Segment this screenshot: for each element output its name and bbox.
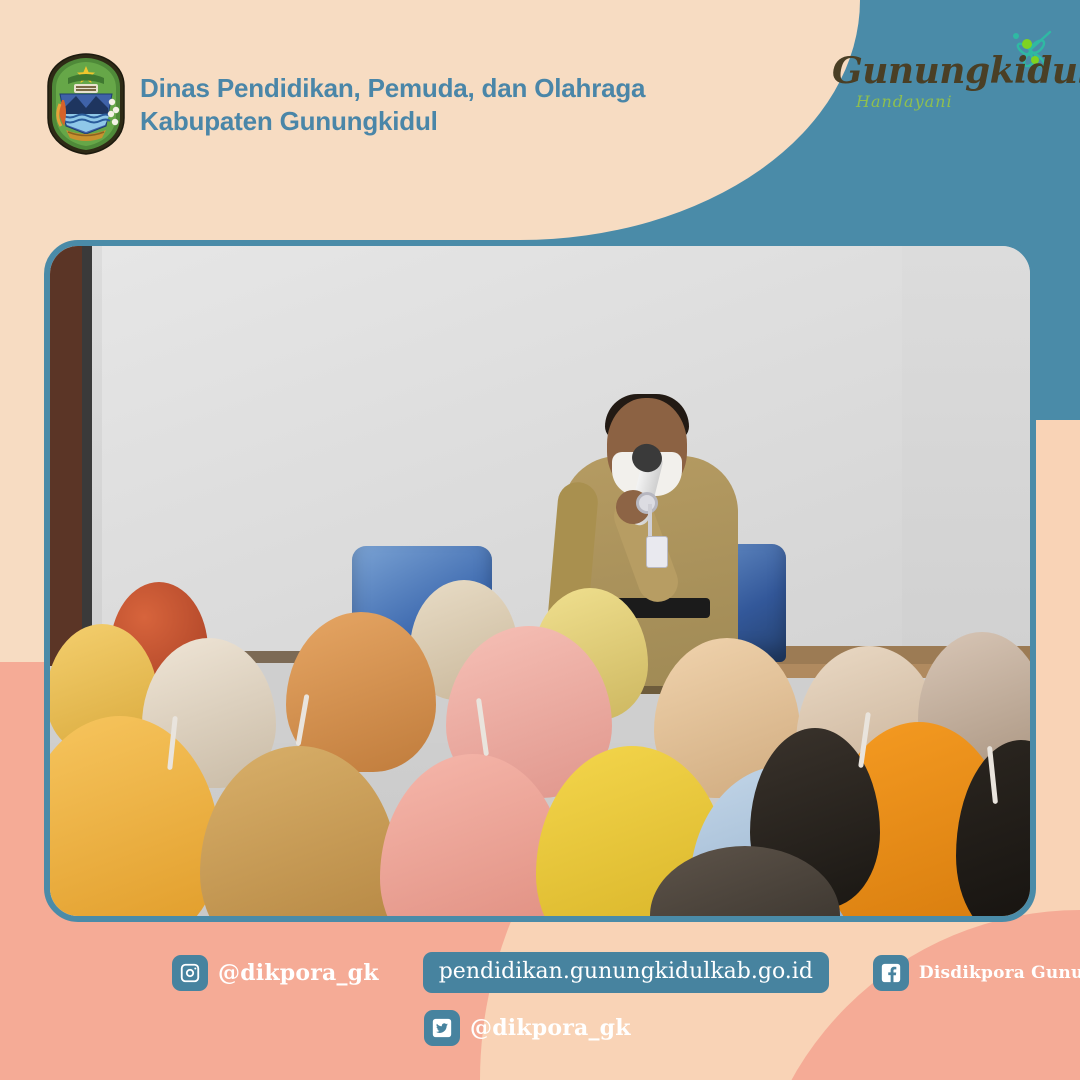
footer-row-primary: @dikpora_gk pendidikan.gunungkidulkab.go… (172, 952, 1080, 993)
speaker-id-badge (646, 536, 668, 568)
photo-frame (44, 240, 1036, 922)
twitter-handle[interactable]: @dikpora_gk (470, 1015, 631, 1041)
social-footer: @dikpora_gk pendidikan.gunungkidulkab.go… (0, 930, 1080, 1080)
brand-title: Dinas Pendidikan, Pemuda, dan Olahraga K… (140, 72, 645, 139)
gunungkidul-logo: Gunungkidul Handayani (832, 34, 1062, 130)
facebook-icon[interactable] (873, 955, 909, 991)
instagram-icon[interactable] (172, 955, 208, 991)
coat-of-arms-icon (44, 52, 128, 156)
footer-row-secondary: @dikpora_gk (424, 1010, 631, 1046)
website-url-pill[interactable]: pendidikan.gunungkidulkab.go.id (423, 952, 829, 993)
door-edge (82, 246, 92, 666)
twitter-icon[interactable] (424, 1010, 460, 1046)
logo-wordmark: Gunungkidul (832, 50, 1032, 92)
speaker-badge-reel (636, 492, 658, 514)
logo-tagline: Handayani (856, 92, 953, 111)
facebook-page-name[interactable]: Disdikpora Gunungkidul (919, 963, 1080, 983)
door-frame (50, 246, 82, 666)
meeting-photograph (50, 246, 1030, 916)
brand-title-line2: Kabupaten Gunungkidul (140, 105, 645, 138)
page-header: Dinas Pendidikan, Pemuda, dan Olahraga K… (0, 0, 1080, 200)
speaker-lanyard (648, 504, 652, 540)
brand-title-line1: Dinas Pendidikan, Pemuda, dan Olahraga (140, 72, 645, 105)
instagram-handle[interactable]: @dikpora_gk (218, 960, 379, 986)
